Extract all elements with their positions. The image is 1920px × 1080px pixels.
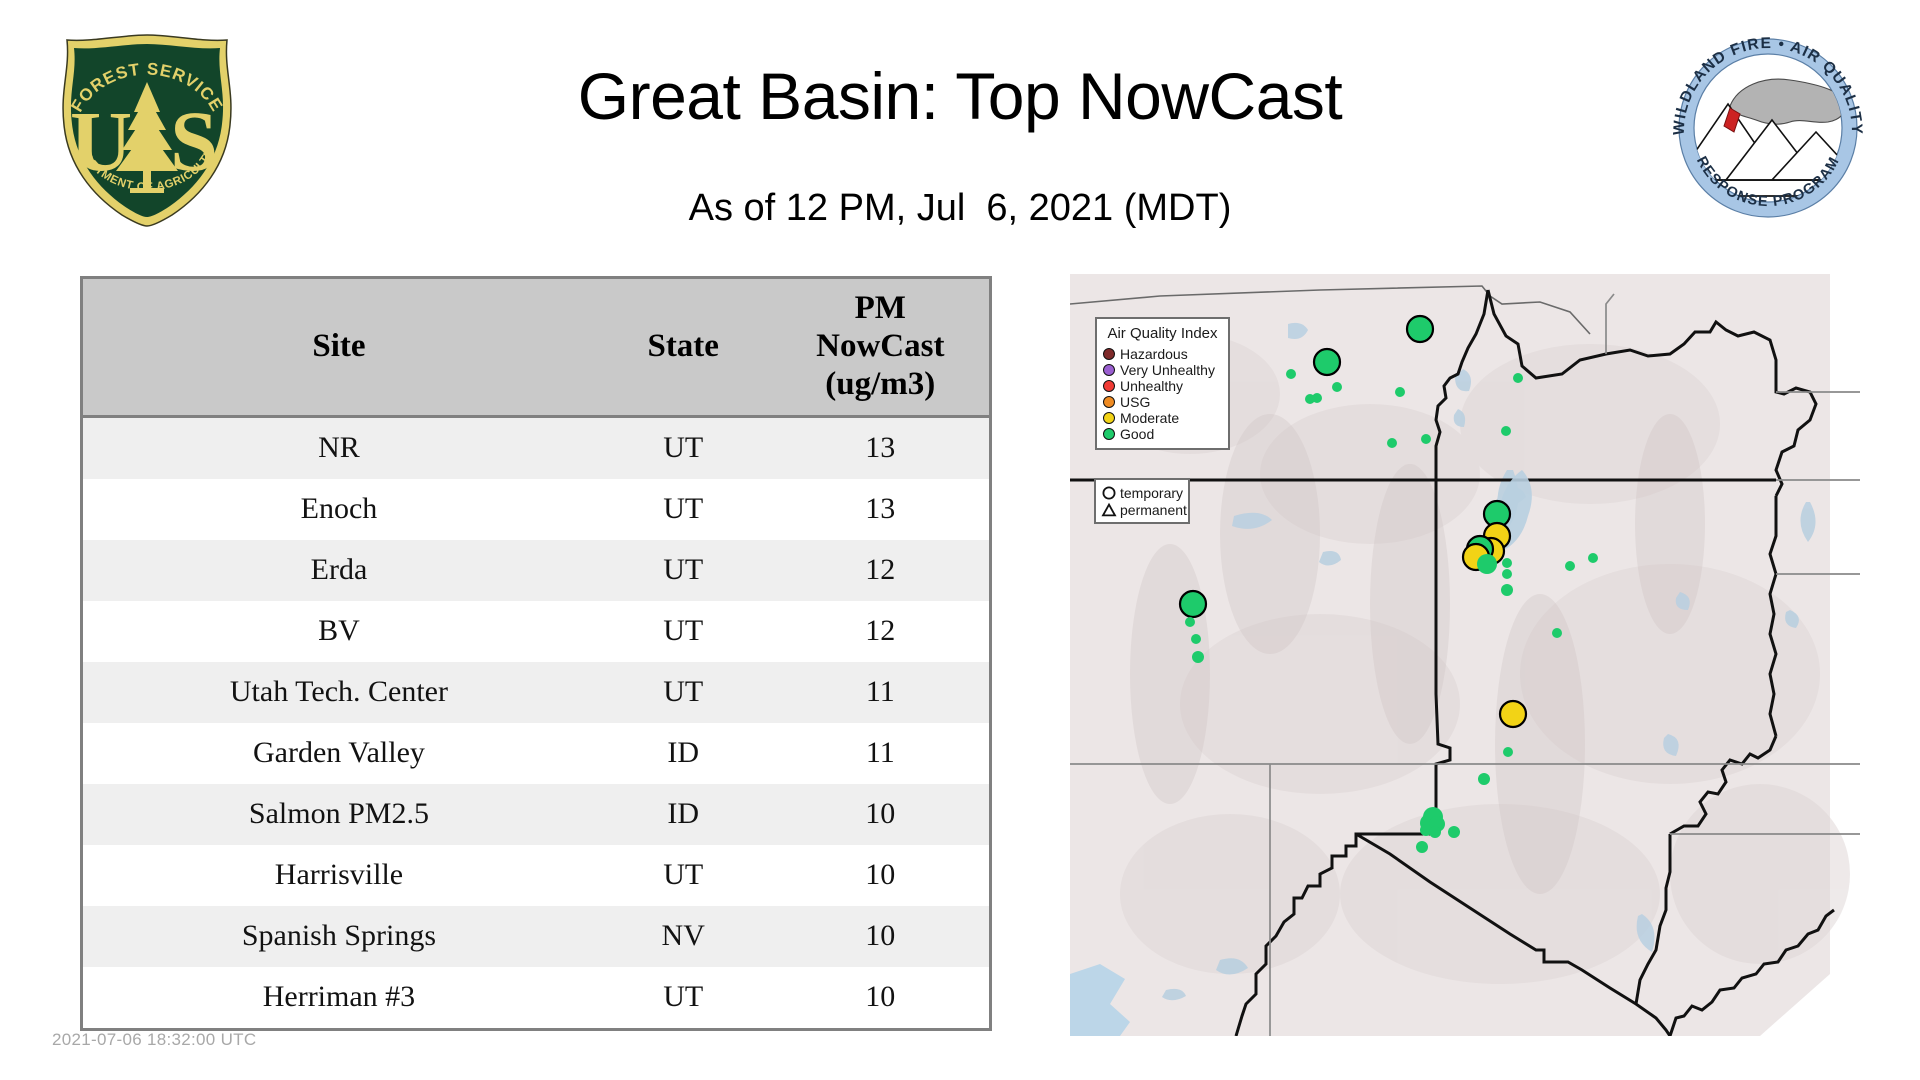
table-row: ErdaUT12 (83, 540, 989, 601)
cell-state: ID (595, 723, 772, 784)
cell-state: ID (595, 784, 772, 845)
aqi-category-dot-icon (1103, 428, 1115, 440)
legend-row-very-unhealthy: Very Unhealthy (1103, 362, 1222, 378)
cell-site: Erda (83, 540, 595, 601)
monitor-marker[interactable] (1332, 382, 1342, 392)
table-row: Utah Tech. CenterUT11 (83, 662, 989, 723)
legend-row-permanent: permanent (1101, 501, 1183, 518)
header-text: Site (312, 328, 365, 364)
header-text-line3: (ug/m3) (825, 366, 935, 402)
table-row: HarrisvilleUT10 (83, 845, 989, 906)
legend-row-hazardous: Hazardous (1103, 346, 1222, 362)
monitor-marker[interactable] (1387, 438, 1397, 448)
great-basin-aqi-map[interactable]: Air Quality Index HazardousVery Unhealth… (1070, 274, 1860, 1036)
table-row: Salmon PM2.5ID10 (83, 784, 989, 845)
cell-pm-nowcast: 10 (772, 845, 989, 906)
cell-state: UT (595, 967, 772, 1028)
monitor-marker[interactable] (1448, 826, 1460, 838)
monitor-marker[interactable] (1395, 387, 1405, 397)
cell-site: BV (83, 601, 595, 662)
legend-label: Good (1120, 426, 1154, 442)
monitor-marker[interactable] (1286, 369, 1296, 379)
cell-pm-nowcast: 12 (772, 540, 989, 601)
monitor-marker[interactable] (1503, 747, 1513, 757)
cell-state: UT (595, 601, 772, 662)
legend-label-temporary: temporary (1120, 485, 1183, 501)
legend-label: Very Unhealthy (1120, 362, 1215, 378)
cell-site: Salmon PM2.5 (83, 784, 595, 845)
page-title: Great Basin: Top NowCast (260, 56, 1660, 136)
aqi-category-dot-icon (1103, 380, 1115, 392)
monitor-marker[interactable] (1502, 569, 1512, 579)
cell-pm-nowcast: 10 (772, 906, 989, 967)
legend-label: Unhealthy (1120, 378, 1183, 394)
column-header-site: Site (83, 279, 595, 417)
cell-state: UT (595, 479, 772, 540)
header-text: State (647, 328, 718, 364)
legend-label: Hazardous (1120, 346, 1188, 362)
monitor-marker[interactable] (1477, 554, 1497, 574)
aqi-category-dot-icon (1103, 348, 1115, 360)
monitor-marker[interactable] (1180, 591, 1206, 617)
cell-state: UT (595, 540, 772, 601)
cell-state: UT (595, 662, 772, 723)
table-row: NRUT13 (83, 417, 989, 480)
slide-root: FOREST SERVICE DEPARTMENT OF AGRICULTURE… (0, 0, 1920, 1080)
aqi-category-dot-icon (1103, 412, 1115, 424)
cell-state: NV (595, 906, 772, 967)
table-row: EnochUT13 (83, 479, 989, 540)
cell-pm-nowcast: 10 (772, 784, 989, 845)
cell-pm-nowcast: 11 (772, 662, 989, 723)
monitor-marker[interactable] (1314, 349, 1340, 375)
table-row: Spanish SpringsNV10 (83, 906, 989, 967)
cell-site: Enoch (83, 479, 595, 540)
aqi-category-dot-icon (1103, 364, 1115, 376)
cell-pm-nowcast: 13 (772, 417, 989, 480)
aqi-legend: Air Quality Index HazardousVery Unhealth… (1095, 317, 1230, 450)
circle-icon (1101, 485, 1117, 501)
legend-row-good: Good (1103, 426, 1222, 442)
aqi-legend-title: Air Quality Index (1103, 325, 1222, 342)
column-header-pm-nowcast: PM NowCast (ug/m3) (772, 279, 989, 417)
legend-label-permanent: permanent (1120, 502, 1187, 518)
table-row: Garden ValleyID11 (83, 723, 989, 784)
table-row: Herriman #3UT10 (83, 967, 989, 1028)
site-type-legend: temporary permanent (1094, 478, 1190, 524)
table-row: BVUT12 (83, 601, 989, 662)
top-nowcast-table: Site State PM NowCast (ug/m3) NRUT13Enoc… (83, 279, 989, 1028)
cell-site: Harrisville (83, 845, 595, 906)
page-subtitle: As of 12 PM, Jul 6, 2021 (MDT) (260, 185, 1660, 231)
monitor-marker[interactable] (1588, 553, 1598, 563)
cell-site: Utah Tech. Center (83, 662, 595, 723)
legend-label: USG (1120, 394, 1150, 410)
monitor-marker[interactable] (1191, 634, 1201, 644)
top-nowcast-table-container: Site State PM NowCast (ug/m3) NRUT13Enoc… (80, 276, 992, 1031)
monitor-marker[interactable] (1500, 701, 1526, 727)
monitor-marker[interactable] (1501, 584, 1513, 596)
monitor-marker[interactable] (1185, 617, 1195, 627)
cell-state: UT (595, 845, 772, 906)
generated-timestamp: 2021-07-06 18:32:00 UTC (52, 1030, 256, 1050)
monitor-marker[interactable] (1305, 394, 1315, 404)
header-text-line2: NowCast (816, 328, 944, 364)
cell-site: Herriman #3 (83, 967, 595, 1028)
cell-site: NR (83, 417, 595, 480)
monitor-marker[interactable] (1565, 561, 1575, 571)
svg-text:U: U (70, 93, 132, 189)
header-text-line1: PM (855, 290, 906, 326)
monitor-marker[interactable] (1501, 426, 1511, 436)
monitor-marker[interactable] (1416, 841, 1428, 853)
cell-site: Garden Valley (83, 723, 595, 784)
monitor-marker[interactable] (1552, 628, 1562, 638)
legend-row-unhealthy: Unhealthy (1103, 378, 1222, 394)
cell-pm-nowcast: 13 (772, 479, 989, 540)
monitor-marker[interactable] (1421, 434, 1431, 444)
cell-pm-nowcast: 11 (772, 723, 989, 784)
svg-text:S: S (170, 93, 218, 189)
legend-row-usg: USG (1103, 394, 1222, 410)
monitor-marker[interactable] (1407, 316, 1433, 342)
wfaqrp-seal-logo: WILDLAND FIRE • AIR QUALITY RESPONSE PRO… (1668, 28, 1868, 228)
legend-label: Moderate (1120, 410, 1179, 426)
usfs-shield-logo: FOREST SERVICE DEPARTMENT OF AGRICULTURE… (52, 30, 242, 230)
column-header-state: State (595, 279, 772, 417)
triangle-icon (1101, 502, 1117, 518)
table-header-row: Site State PM NowCast (ug/m3) (83, 279, 989, 417)
cell-pm-nowcast: 10 (772, 967, 989, 1028)
legend-row-moderate: Moderate (1103, 410, 1222, 426)
monitor-marker[interactable] (1192, 651, 1204, 663)
cell-pm-nowcast: 12 (772, 601, 989, 662)
aqi-category-dot-icon (1103, 396, 1115, 408)
cell-site: Spanish Springs (83, 906, 595, 967)
monitor-marker[interactable] (1502, 558, 1512, 568)
legend-row-temporary: temporary (1101, 484, 1183, 501)
monitor-marker[interactable] (1513, 373, 1523, 383)
cell-state: UT (595, 417, 772, 480)
monitor-marker[interactable] (1429, 826, 1441, 838)
monitor-marker[interactable] (1478, 773, 1490, 785)
